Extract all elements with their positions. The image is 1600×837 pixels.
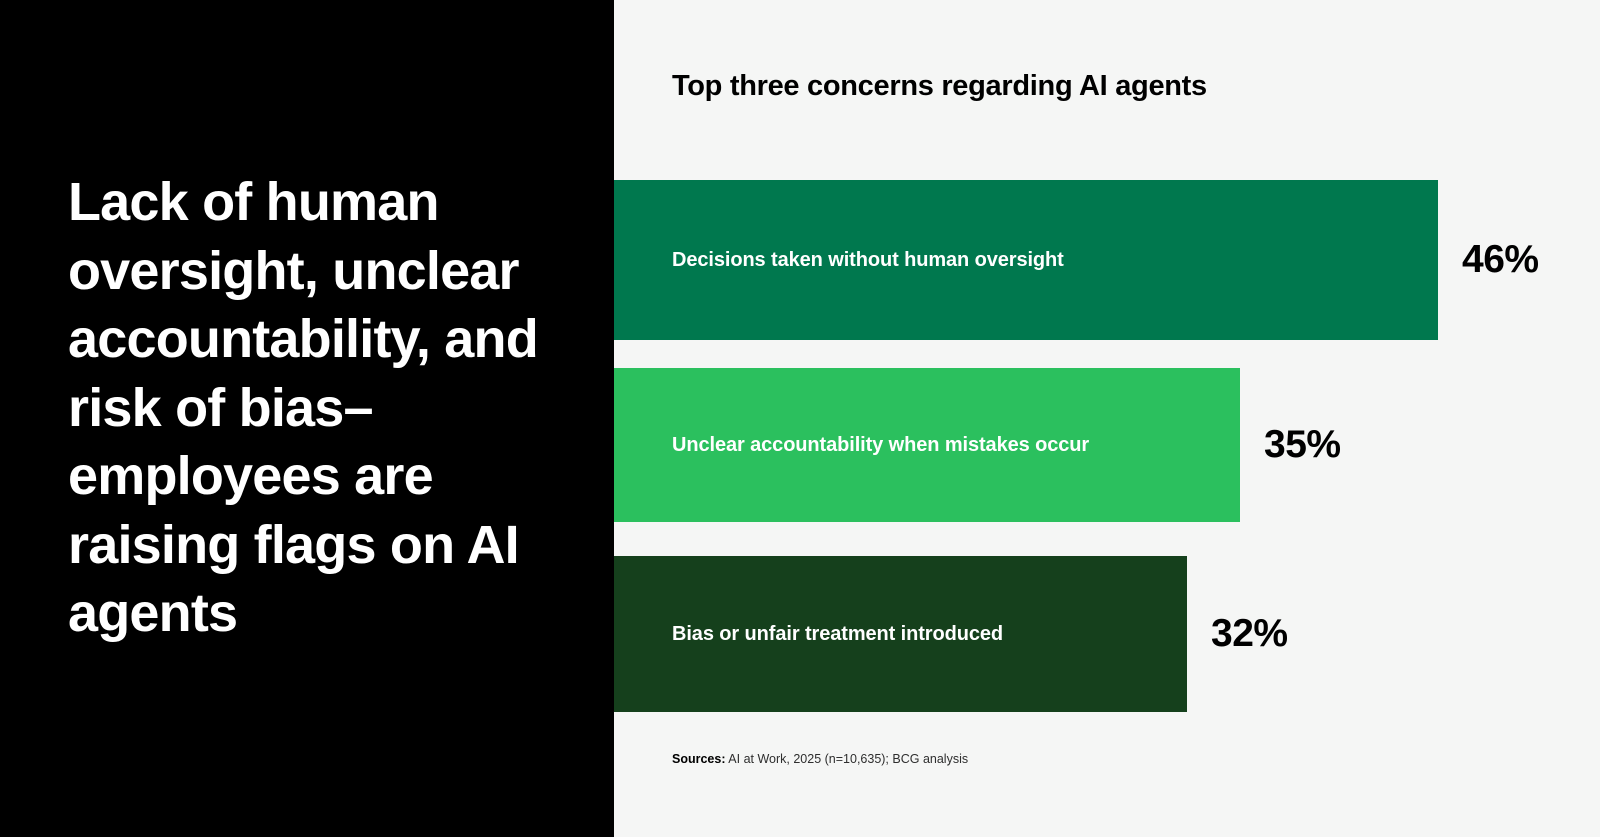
page-title: Lack of human oversight, unclear account… (68, 168, 568, 648)
bar-value: 35% (1264, 423, 1341, 467)
bar-label: Unclear accountability when mistakes occ… (672, 434, 1089, 457)
bar-1: Decisions taken without human oversight (614, 180, 1438, 340)
headline-panel: Lack of human oversight, unclear account… (0, 0, 614, 837)
bar-2: Unclear accountability when mistakes occ… (614, 368, 1240, 522)
bar-row: Decisions taken without human oversight4… (614, 180, 1600, 340)
bar-value: 46% (1462, 238, 1539, 282)
bar-label: Decisions taken without human oversight (672, 249, 1064, 272)
bar-row: Bias or unfair treatment introduced32% (614, 556, 1600, 712)
chart-panel: Top three concerns regarding AI agents D… (614, 0, 1600, 837)
infographic-slide: Lack of human oversight, unclear account… (0, 0, 1600, 837)
bar-chart: Decisions taken without human oversight4… (614, 0, 1600, 837)
bar-row: Unclear accountability when mistakes occ… (614, 368, 1600, 522)
bar-3: Bias or unfair treatment introduced (614, 556, 1187, 712)
bar-value: 32% (1211, 612, 1288, 656)
sources-text: AI at Work, 2025 (n=10,635); BCG analysi… (726, 752, 969, 766)
sources-footnote: Sources: AI at Work, 2025 (n=10,635); BC… (672, 752, 968, 766)
sources-label: Sources: (672, 752, 726, 766)
bar-label: Bias or unfair treatment introduced (672, 623, 1003, 646)
